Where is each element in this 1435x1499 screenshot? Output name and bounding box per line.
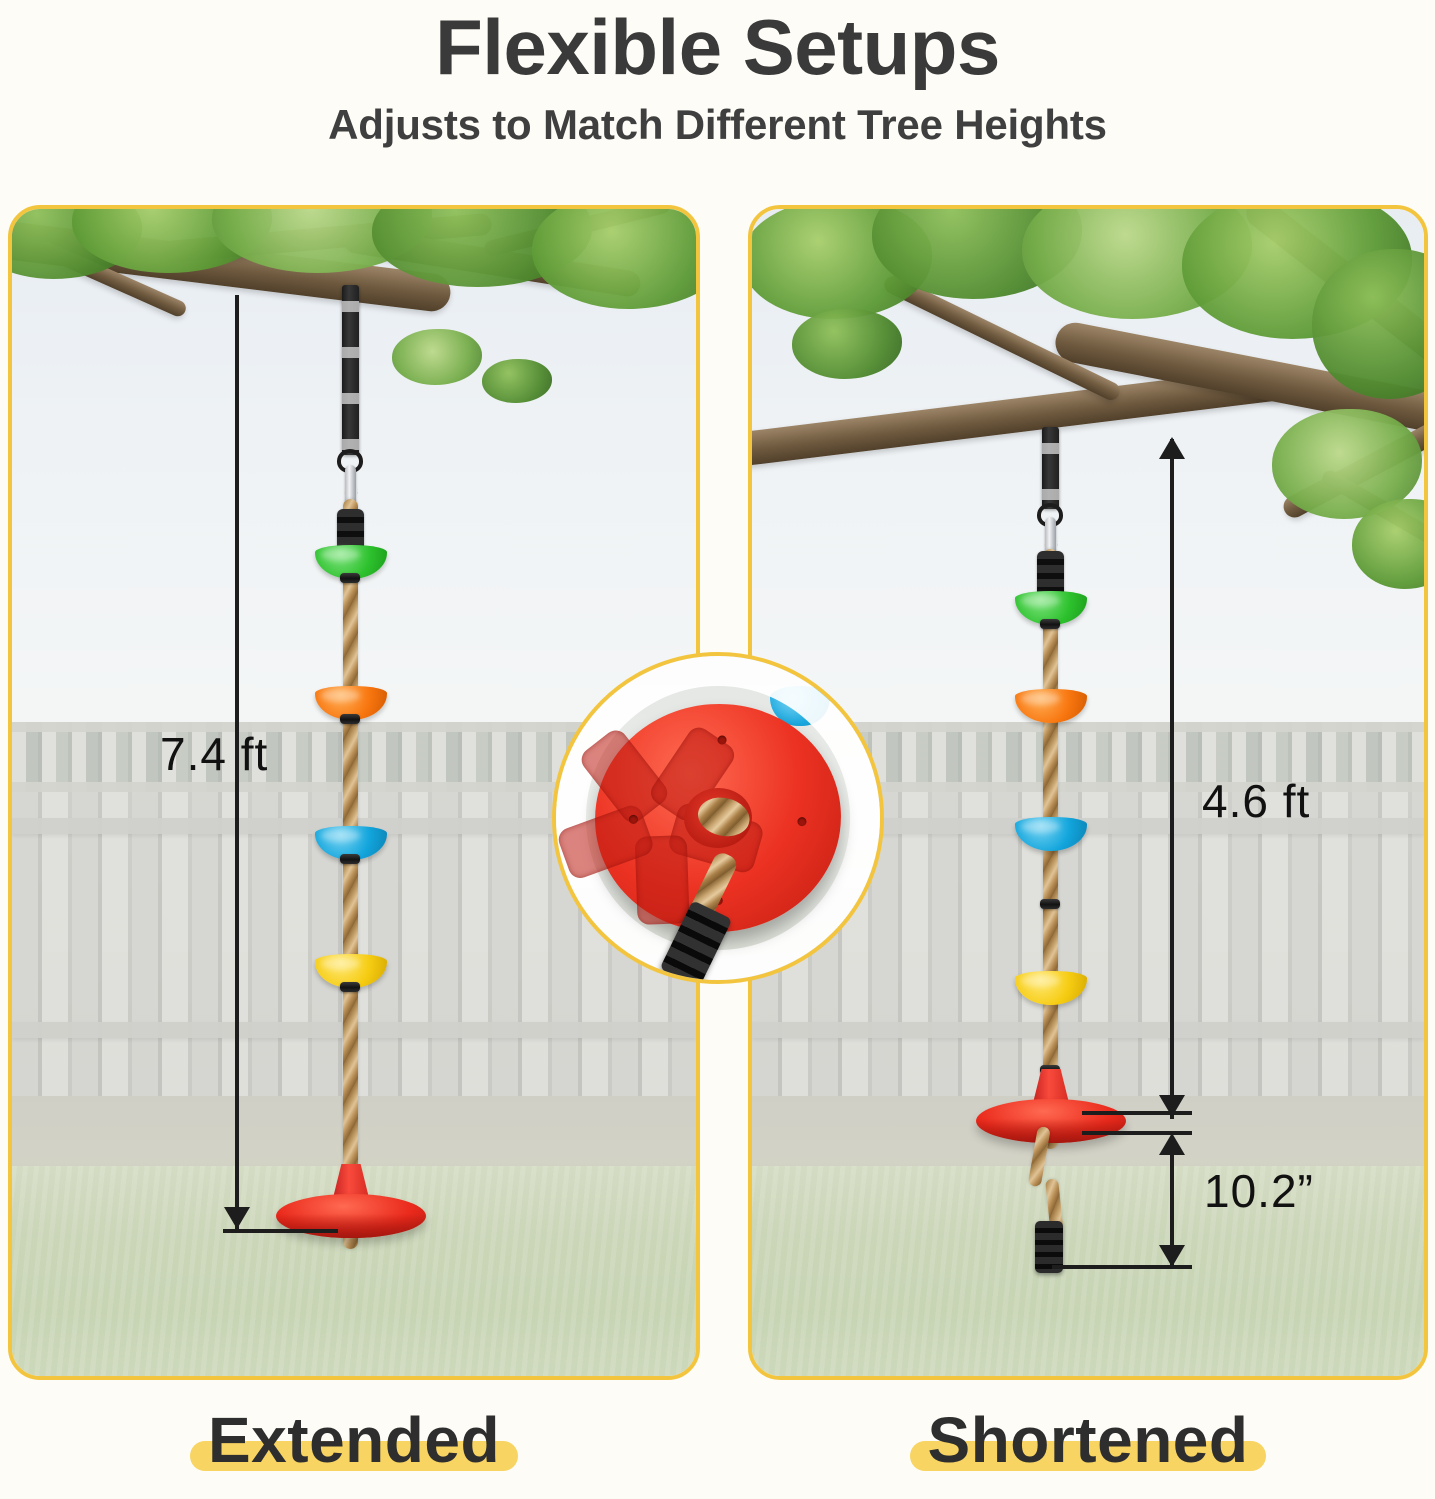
strap-branding: [342, 285, 359, 455]
disc-stopper: [340, 982, 360, 992]
arrow-up-icon: [1159, 437, 1185, 459]
dimension-label-excess: 10.2”: [1204, 1164, 1314, 1218]
disc-stopper: [1040, 899, 1060, 909]
disc-stopper: [1040, 619, 1060, 629]
dimension-tick: [1052, 1265, 1192, 1269]
dimension-tick: [1082, 1111, 1192, 1115]
tree-strap: [1042, 427, 1059, 509]
climbing-disc-blue: [1015, 817, 1087, 851]
caption-wrap: Extended: [190, 1403, 518, 1477]
caption-shortened: Shortened: [748, 1399, 1428, 1481]
seat-rivet: [797, 816, 807, 826]
dimension-tick: [223, 1229, 338, 1233]
infographic-page: Flexible Setups Adjusts to Match Differe…: [0, 0, 1435, 1499]
page-title: Flexible Setups: [435, 6, 1000, 89]
seat-edge: [976, 1099, 1126, 1143]
dimension-line: [1170, 439, 1174, 1119]
dimension-label-total: 4.6 ft: [1202, 774, 1310, 828]
climbing-disc-yellow: [1015, 971, 1087, 1005]
arrow-down-icon: [224, 1207, 250, 1229]
arrow-down-icon: [1159, 1245, 1185, 1267]
caption-label-extended: Extended: [208, 1403, 500, 1477]
tree-strap: [342, 285, 359, 455]
detail-inset-rope-lock: [552, 652, 884, 984]
caption-extended: Extended: [8, 1399, 700, 1481]
dimension-label-total: 7.4 ft: [160, 727, 268, 781]
disc-stopper: [340, 573, 360, 583]
page-subtitle: Adjusts to Match Different Tree Heights: [328, 101, 1107, 149]
caption-label-shortened: Shortened: [928, 1403, 1249, 1477]
caption-wrap: Shortened: [910, 1403, 1267, 1477]
climbing-disc-orange: [1015, 689, 1087, 723]
disc-stopper: [340, 714, 360, 724]
strap-branding: [1042, 427, 1059, 509]
disc-stopper: [340, 854, 360, 864]
header: Flexible Setups Adjusts to Match Differe…: [0, 0, 1435, 195]
climbing-rope: [343, 499, 358, 1249]
